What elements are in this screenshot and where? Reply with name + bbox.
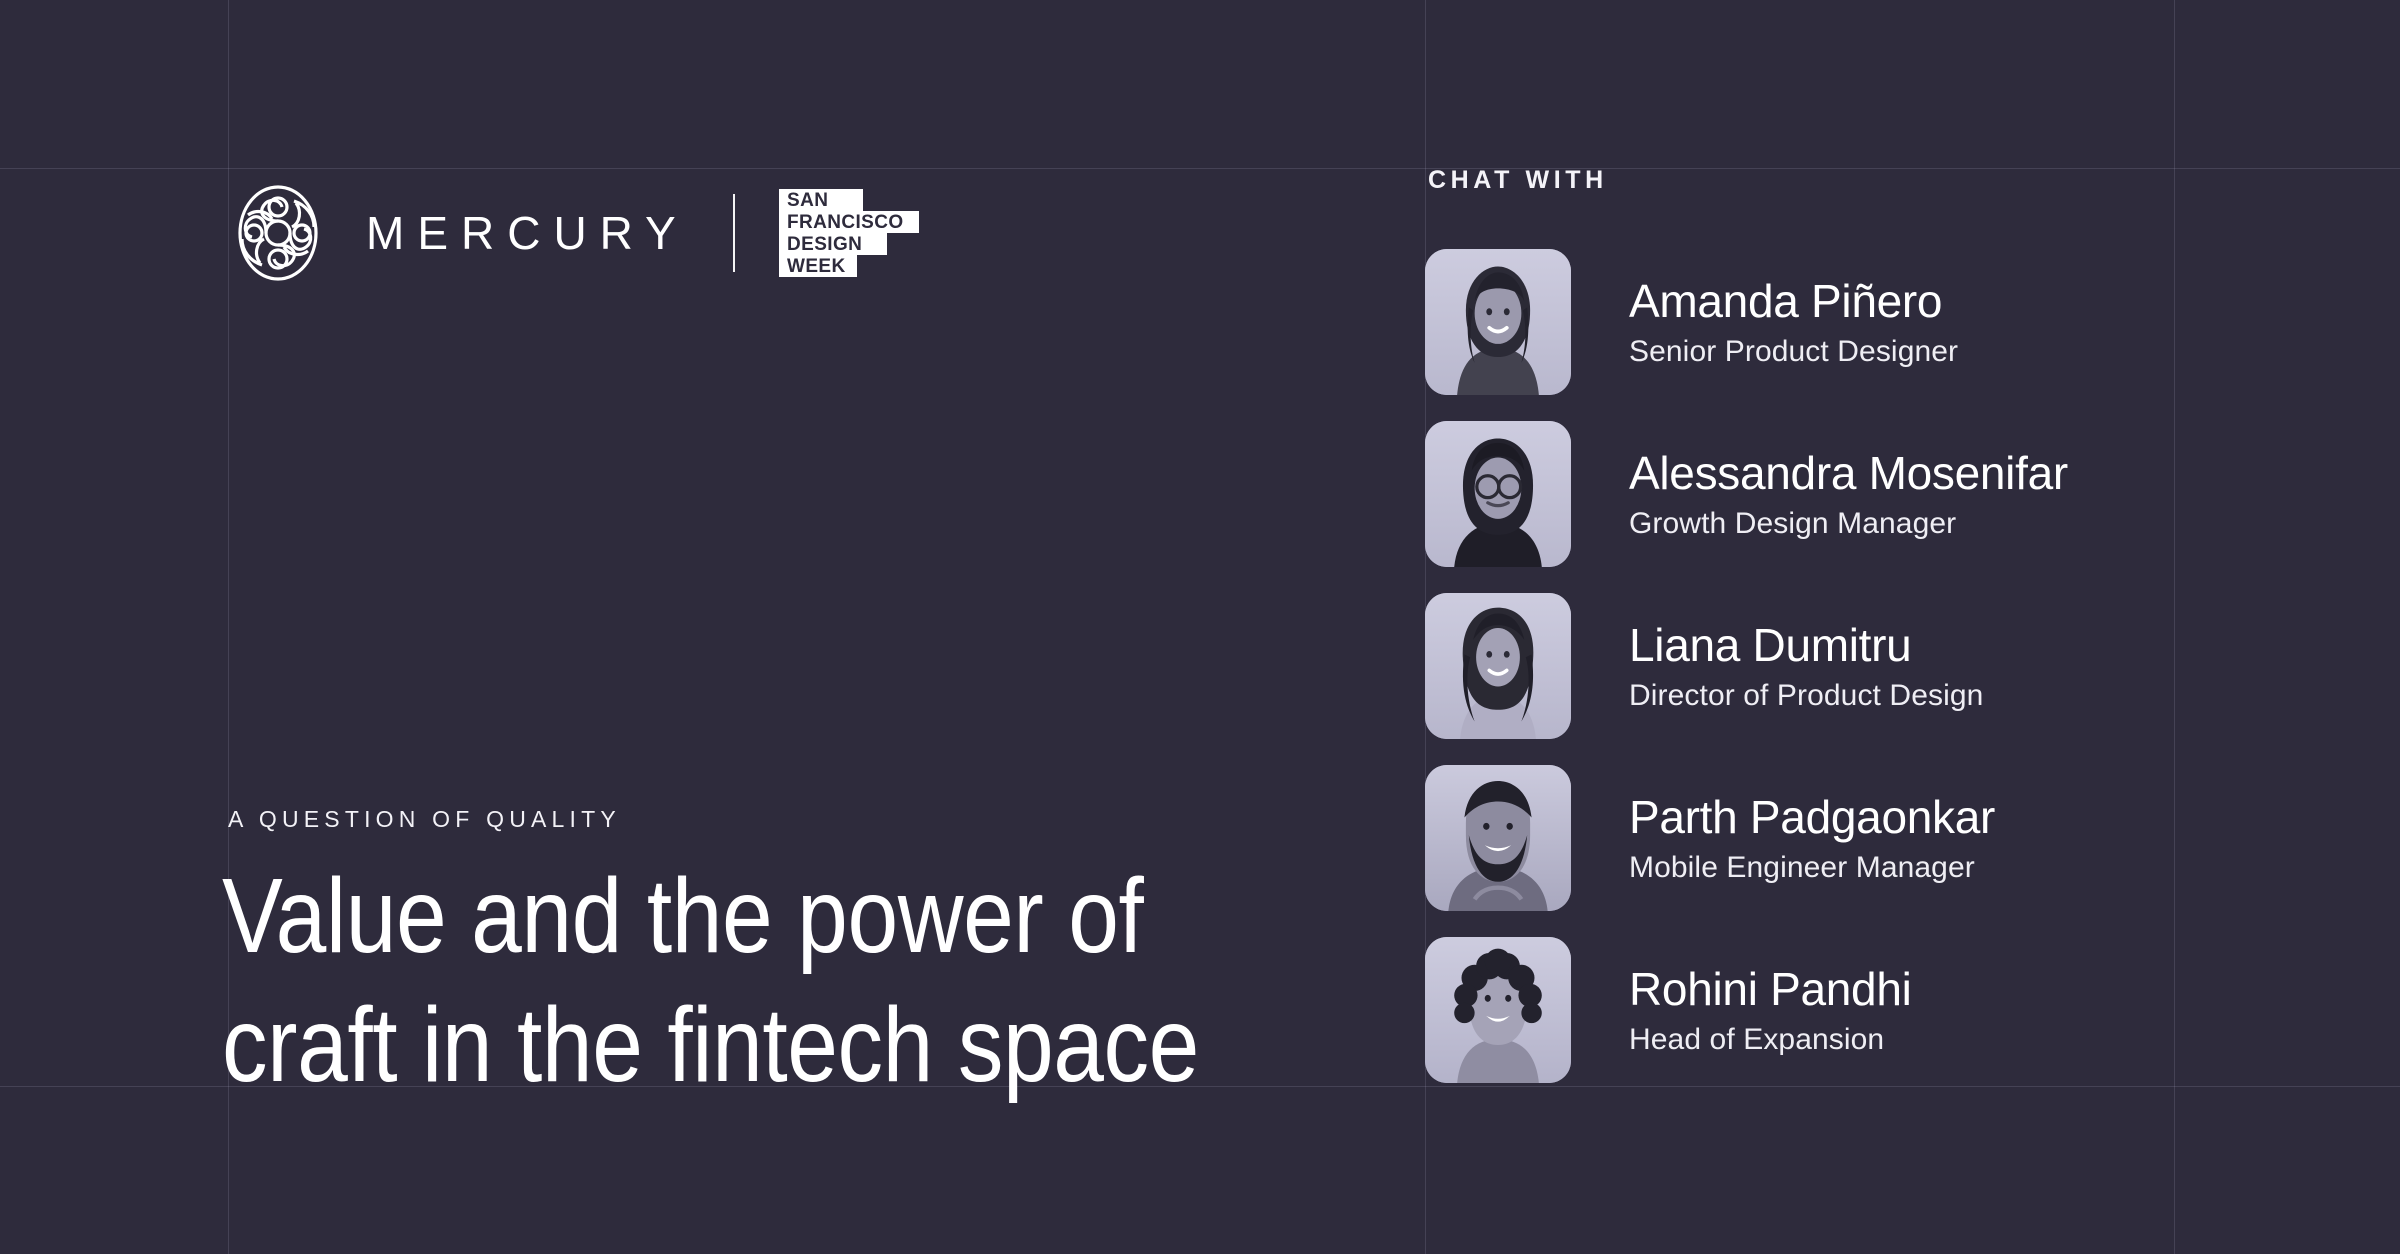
chat-with-label: CHAT WITH <box>1428 166 1608 195</box>
speaker-text: Rohini Pandhi Head of Expansion <box>1629 964 1912 1056</box>
grid-line-horizontal-top <box>0 168 2400 169</box>
svg-text:WEEK: WEEK <box>787 256 846 277</box>
speaker-text: Liana Dumitru Director of Product Design <box>1629 620 1983 712</box>
speaker-name: Amanda Piñero <box>1629 276 1958 328</box>
speaker-list: Amanda Piñero Senior Product Designer Al… <box>1425 236 2400 1096</box>
avatar-liana-dumitru <box>1425 593 1571 739</box>
avatar-rohini-pandhi <box>1425 937 1571 1083</box>
speaker-name: Liana Dumitru <box>1629 620 1983 672</box>
avatar-parth-padgaonkar <box>1425 765 1571 911</box>
mercury-knot-icon <box>228 183 328 283</box>
svg-text:DESIGN: DESIGN <box>787 234 862 255</box>
speaker-text: Parth Padgaonkar Mobile Engineer Manager <box>1629 792 1995 884</box>
list-item[interactable]: Amanda Piñero Senior Product Designer <box>1425 236 2400 408</box>
speaker-role: Senior Product Designer <box>1629 335 1958 368</box>
page-title-line-2: craft in the fintech space <box>222 981 1237 1110</box>
sfdw-logo-icon: SAN FRANCISCO DESIGN WEEK <box>779 189 979 277</box>
speaker-role: Mobile Engineer Manager <box>1629 851 1995 884</box>
mercury-wordmark: MERCURY <box>366 210 689 256</box>
speaker-role: Director of Product Design <box>1629 679 1983 712</box>
page-title: Value and the power of craft in the fint… <box>222 852 1237 1111</box>
speaker-name: Rohini Pandhi <box>1629 964 1912 1016</box>
list-item[interactable]: Alessandra Mosenifar Growth Design Manag… <box>1425 408 2400 580</box>
brand-lockup: MERCURY SAN FRANCISCO DESIGN WEEK <box>228 178 979 288</box>
list-item[interactable]: Rohini Pandhi Head of Expansion <box>1425 924 2400 1096</box>
page-title-line-1: Value and the power of <box>222 852 1237 981</box>
list-item[interactable]: Liana Dumitru Director of Product Design <box>1425 580 2400 752</box>
speaker-role: Growth Design Manager <box>1629 507 2068 540</box>
list-item[interactable]: Parth Padgaonkar Mobile Engineer Manager <box>1425 752 2400 924</box>
svg-text:SAN: SAN <box>787 190 828 211</box>
avatar-amanda-pinero <box>1425 249 1571 395</box>
speaker-name: Alessandra Mosenifar <box>1629 448 2068 500</box>
speaker-name: Parth Padgaonkar <box>1629 792 1995 844</box>
speaker-text: Alessandra Mosenifar Growth Design Manag… <box>1629 448 2068 540</box>
speaker-role: Head of Expansion <box>1629 1023 1912 1056</box>
avatar-alessandra-mosenifar <box>1425 421 1571 567</box>
speaker-text: Amanda Piñero Senior Product Designer <box>1629 276 1958 368</box>
vertical-divider-icon <box>733 194 735 272</box>
svg-text:FRANCISCO: FRANCISCO <box>787 212 904 233</box>
eyebrow-text: A QUESTION OF QUALITY <box>228 806 621 833</box>
